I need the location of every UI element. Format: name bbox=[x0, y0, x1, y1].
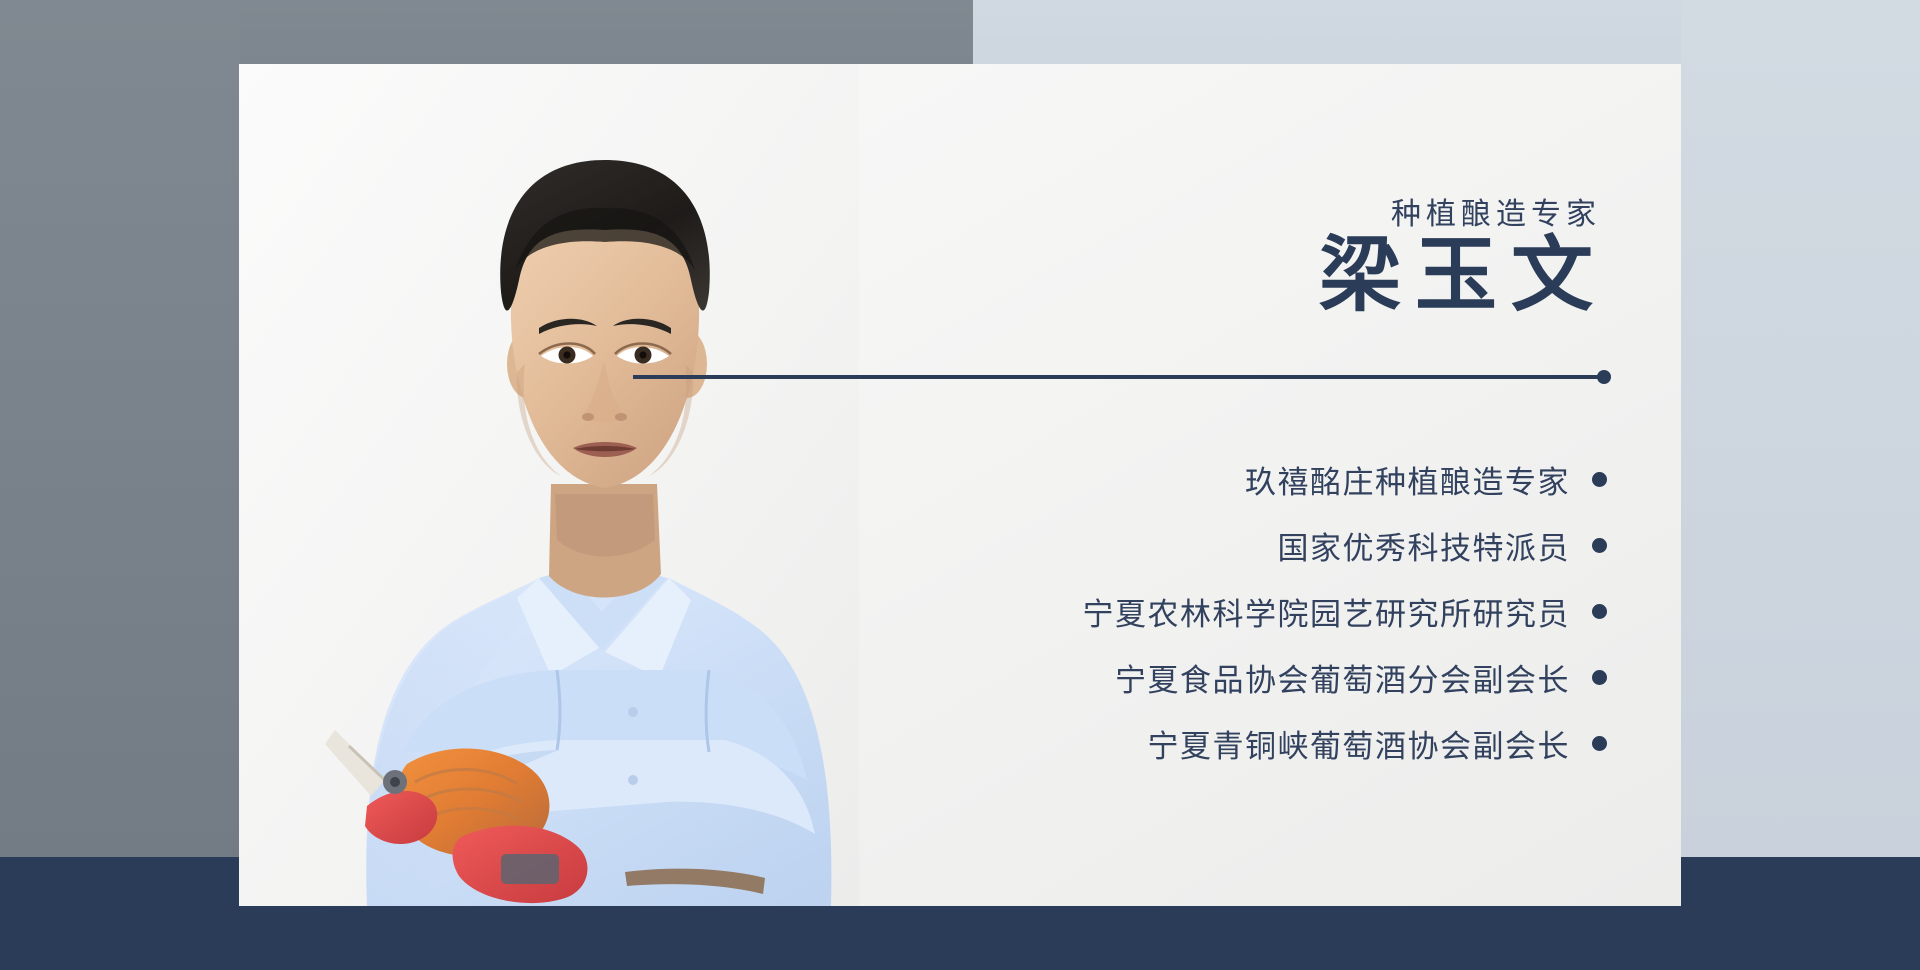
bullet-dot-icon bbox=[1592, 472, 1607, 487]
expert-profile-card: 种植酿造专家 梁玉文 玖禧酩庄种植酿造专家 国家优秀科技特派员 宁夏农林科学院园… bbox=[239, 64, 1681, 906]
bullet-dot-icon bbox=[1592, 670, 1607, 685]
divider-line bbox=[633, 375, 1605, 379]
bullet-dot-icon bbox=[1592, 736, 1607, 751]
list-item: 宁夏食品协会葡萄酒分会副会长 bbox=[1115, 644, 1607, 710]
background-gray-left-panel bbox=[0, 0, 240, 858]
background-blue-right-panel bbox=[1681, 0, 1920, 858]
list-item: 国家优秀科技特派员 bbox=[1278, 512, 1608, 578]
credential-list: 玖禧酩庄种植酿造专家 国家优秀科技特派员 宁夏农林科学院园艺研究所研究员 宁夏食… bbox=[747, 446, 1607, 776]
bullet-dot-icon bbox=[1592, 604, 1607, 619]
credential-label: 玖禧酩庄种植酿造专家 bbox=[1245, 457, 1570, 502]
credential-label: 宁夏食品协会葡萄酒分会副会长 bbox=[1115, 655, 1570, 700]
list-item: 宁夏农林科学院园艺研究所研究员 bbox=[1083, 578, 1608, 644]
credential-label: 宁夏青铜峡葡萄酒协会副会长 bbox=[1148, 721, 1571, 766]
list-item: 玖禧酩庄种植酿造专家 bbox=[1245, 446, 1607, 512]
credential-label: 国家优秀科技特派员 bbox=[1278, 523, 1571, 568]
list-item: 宁夏青铜峡葡萄酒协会副会长 bbox=[1148, 710, 1608, 776]
divider-end-dot-icon bbox=[1597, 370, 1611, 384]
expert-role-eyebrow: 种植酿造专家 bbox=[1391, 189, 1601, 233]
profile-banner: 种植酿造专家 梁玉文 玖禧酩庄种植酿造专家 国家优秀科技特派员 宁夏农林科学院园… bbox=[0, 0, 1920, 970]
bullet-dot-icon bbox=[1592, 538, 1607, 553]
expert-name: 梁玉文 bbox=[1319, 229, 1607, 323]
credential-label: 宁夏农林科学院园艺研究所研究员 bbox=[1083, 589, 1571, 634]
